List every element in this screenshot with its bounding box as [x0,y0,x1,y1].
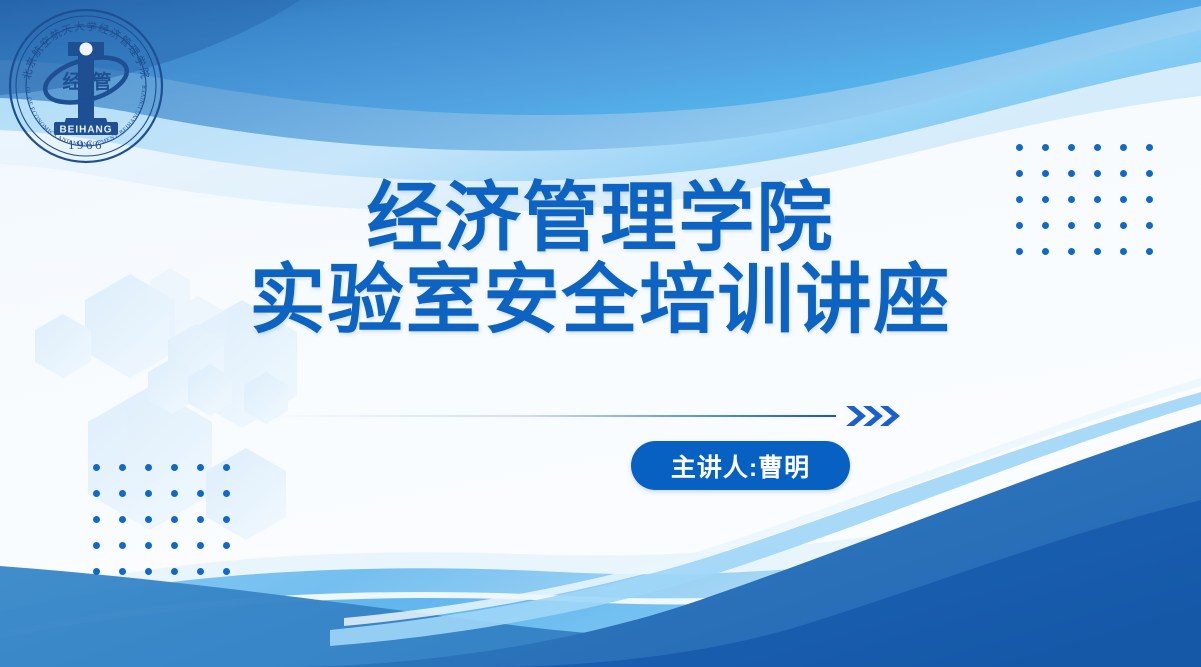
title-line-secondary: 实验室安全培训讲座 [0,260,1201,342]
speaker-badge-label: 主讲人:曹明 [671,448,810,484]
svg-text:BEIHANG: BEIHANG [59,125,112,136]
svg-text:经: 经 [62,70,81,93]
svg-text:管: 管 [92,70,111,93]
title-slide: 北京航空航天大学经济管理学院 SCHOOL OF ECONOMICS AND M… [0,0,1201,667]
beihang-sem-emblem-icon: 北京航空航天大学经济管理学院 SCHOOL OF ECONOMICS AND M… [6,6,166,166]
title-divider [272,403,900,429]
double-chevron-right-icon [845,403,900,429]
svg-text:1966: 1966 [68,137,104,152]
title-line-primary: 经济管理学院 [0,178,1201,260]
dot-grid-bottom-left [93,464,249,594]
page-title: 经济管理学院 实验室安全培训讲座 [0,178,1201,342]
speaker-badge: 主讲人:曹明 [631,441,850,490]
divider-line [272,415,836,417]
university-logo: 北京航空航天大学经济管理学院 SCHOOL OF ECONOMICS AND M… [6,6,166,166]
